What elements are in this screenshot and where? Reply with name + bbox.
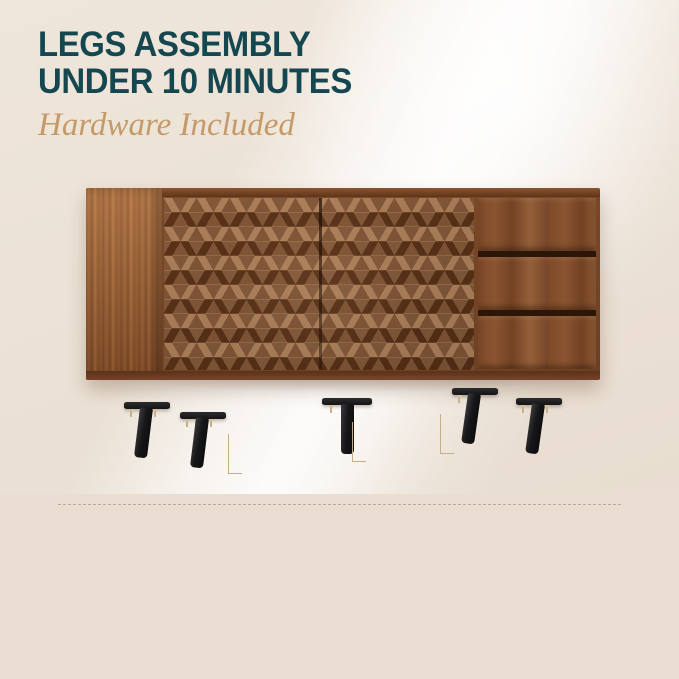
drawer-1 (478, 198, 596, 251)
allen-key-icon (352, 422, 366, 462)
drawer-3 (478, 316, 596, 369)
cabinet-body (86, 188, 600, 380)
cabinet-drawers (478, 198, 596, 370)
heading-line-2: UNDER 10 MINUTES (38, 63, 352, 100)
heading-block: LEGS ASSEMBLY UNDER 10 MINUTES Hardware … (38, 26, 372, 145)
door-seam (319, 198, 322, 370)
cabinet-hex-doors (164, 198, 474, 370)
allen-key-icon (440, 414, 454, 454)
legs-photo-row (0, 388, 679, 488)
allen-key-icon (228, 434, 242, 474)
heading-line-1: LEGS ASSEMBLY (38, 26, 352, 63)
cabinet-side-panel (86, 188, 162, 380)
parts-diagram-area (0, 505, 679, 679)
product-photo (86, 188, 600, 386)
heading-subtitle: Hardware Included (38, 105, 372, 145)
cabinet-top-edge (86, 188, 600, 197)
infographic-page: LEGS ASSEMBLY UNDER 10 MINUTES Hardware … (0, 0, 679, 679)
section-divider (58, 504, 621, 505)
drawer-2 (478, 257, 596, 310)
